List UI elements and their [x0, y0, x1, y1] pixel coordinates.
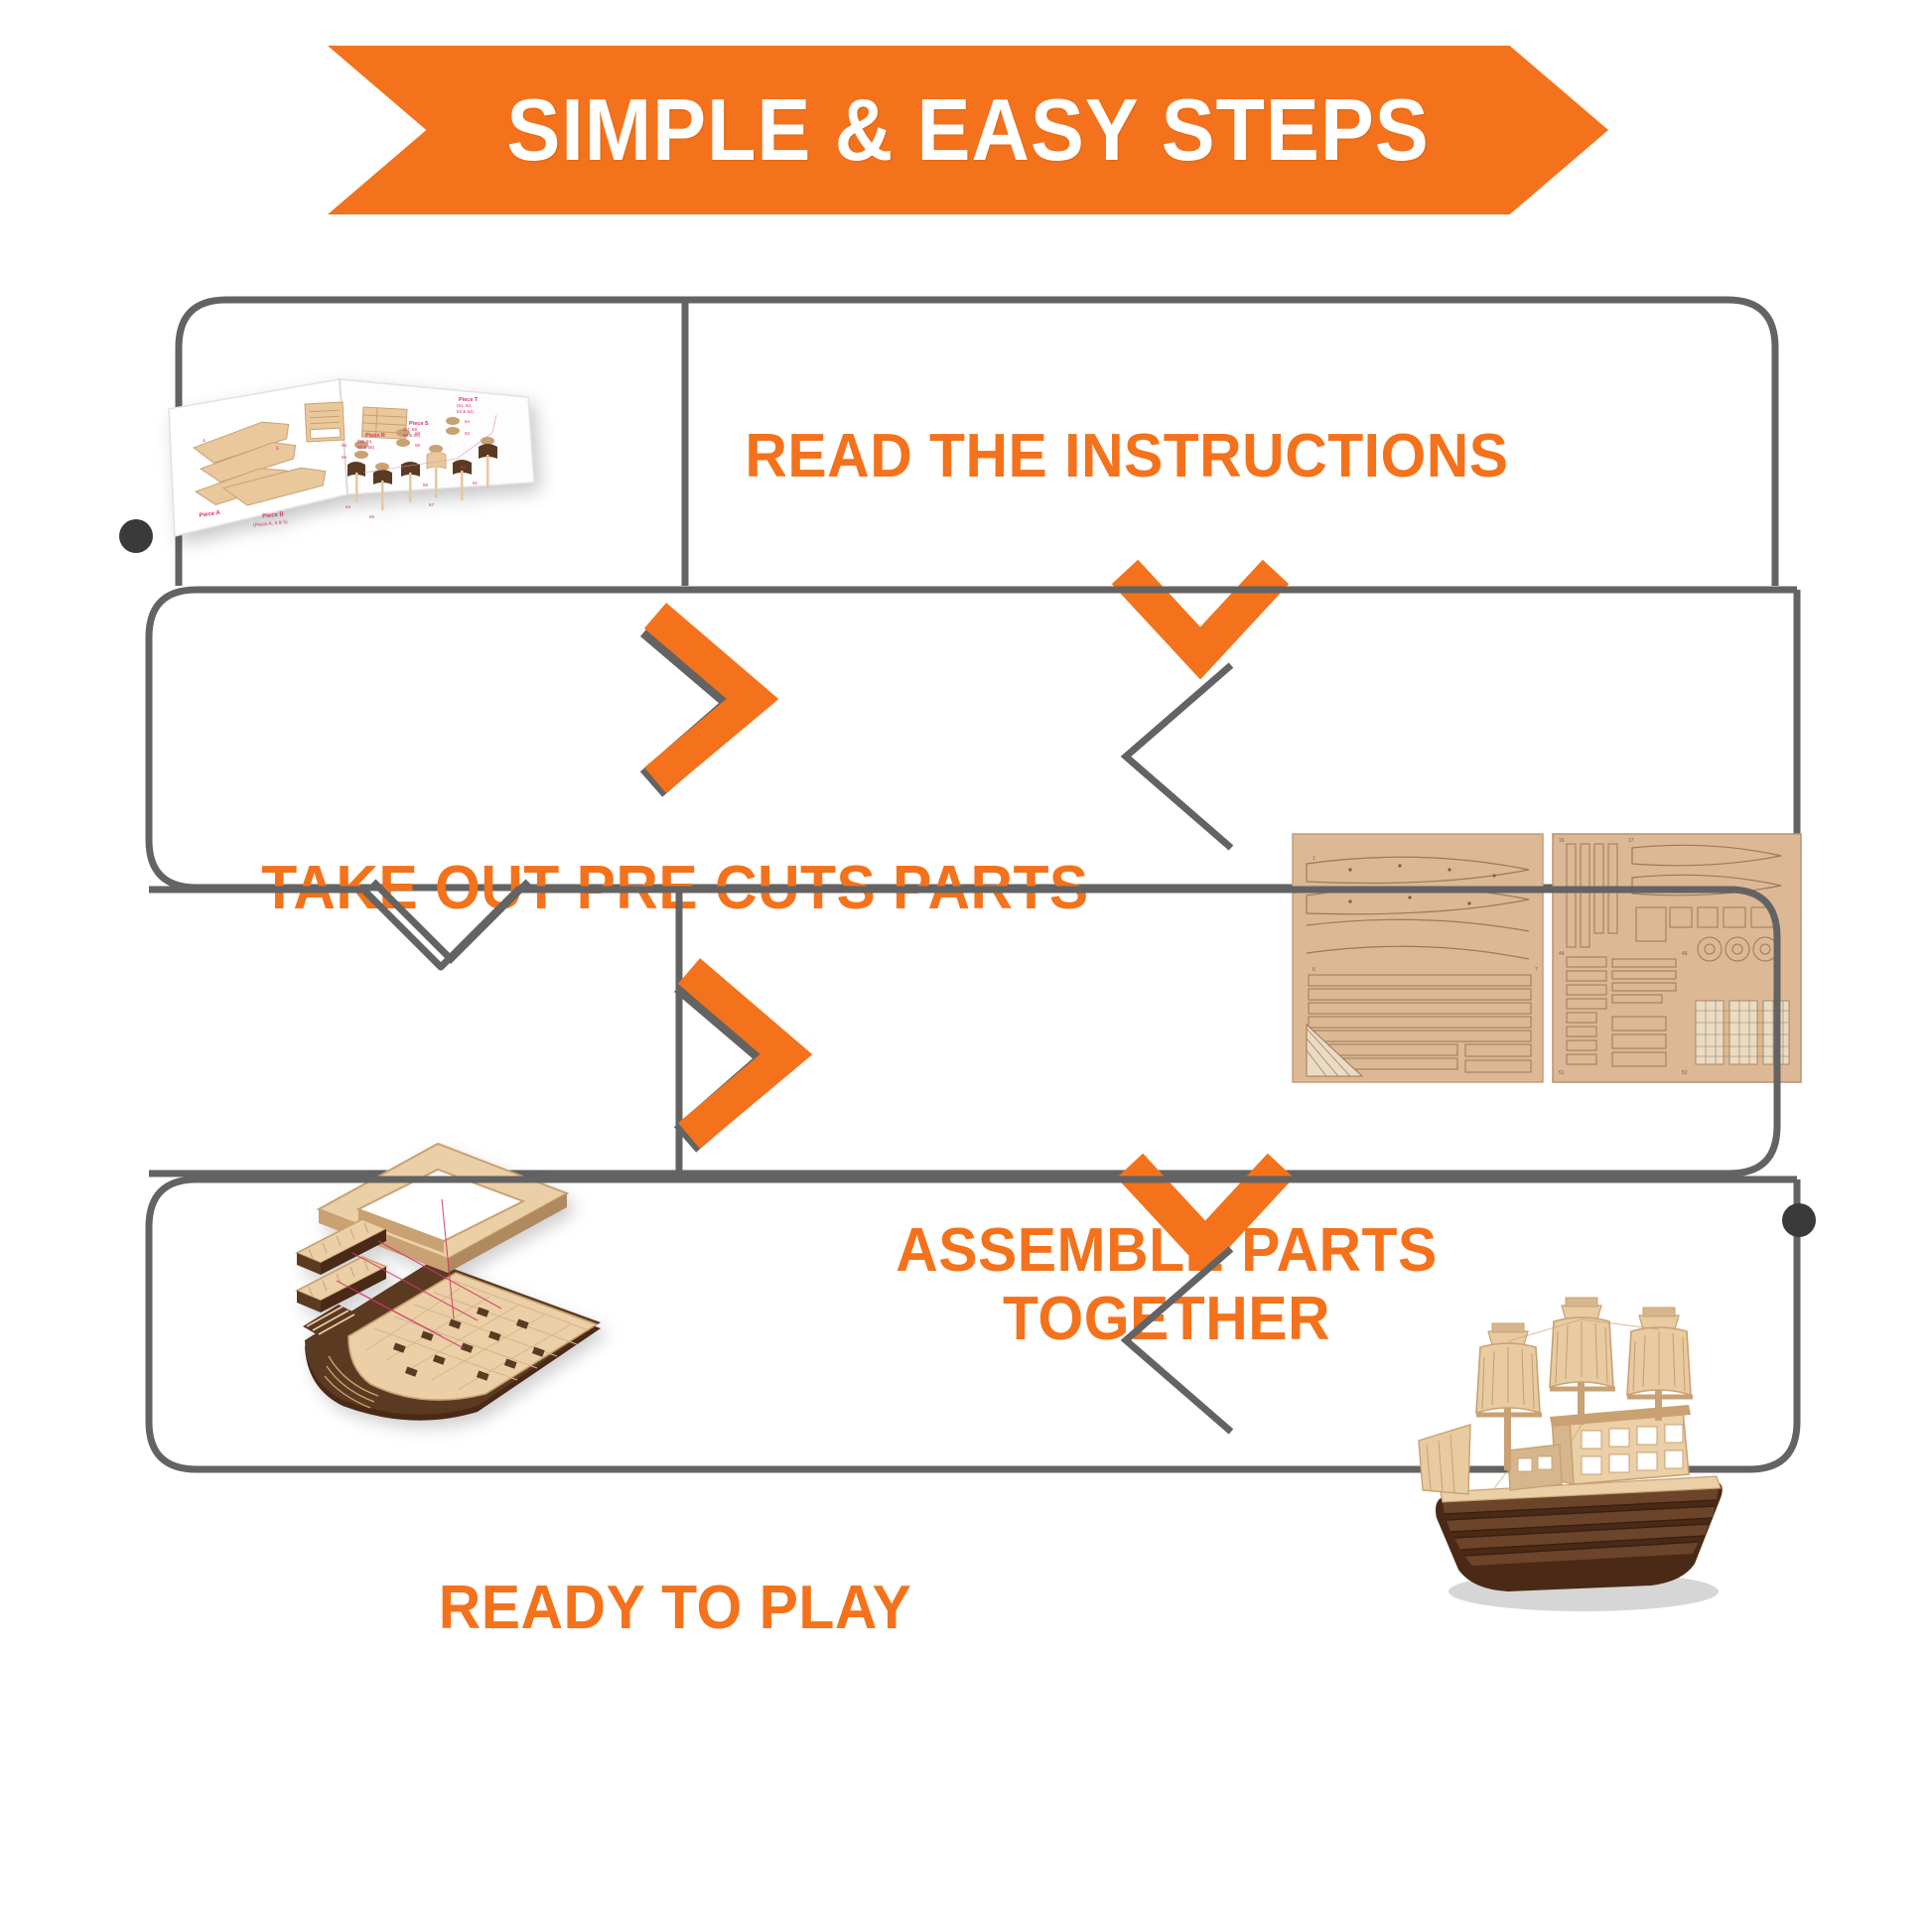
svg-text:(53, 54,: (53, 54,: [357, 439, 372, 444]
svg-text:59 & 60): 59 & 60): [403, 433, 421, 438]
svg-text:Piece B: Piece B: [262, 511, 285, 519]
flow-start-dot: [119, 519, 153, 553]
svg-text:16: 16: [1559, 838, 1565, 844]
step-4-label: READY TO PLAY: [222, 1549, 1128, 1668]
svg-text:(61, 62,: (61, 62,: [457, 403, 472, 408]
finished-ship-model-image: [1385, 1246, 1772, 1633]
infographic-canvas: SIMPLE & EASY STEPS: [0, 0, 1932, 1932]
flow-end-dot: [1782, 1203, 1816, 1237]
svg-text:61: 61: [473, 481, 479, 485]
svg-text:64: 64: [465, 419, 471, 424]
header-banner: SIMPLE & EASY STEPS: [328, 46, 1608, 214]
svg-text:60 & 58): 60 & 58): [357, 445, 375, 450]
step-3-outline: [149, 882, 1797, 1179]
svg-text:63 & 64): 63 & 64): [457, 409, 475, 414]
step-4-chevron-icon: [1112, 1247, 1251, 1436]
svg-text:1: 1: [1312, 856, 1315, 862]
svg-text:(57, 58,: (57, 58,: [403, 427, 418, 432]
banner-shape: SIMPLE & EASY STEPS: [328, 46, 1608, 214]
svg-text:62: 62: [461, 465, 467, 470]
step-1-label: READ THE INSTRUCTIONS: [660, 397, 1594, 516]
svg-text:56: 56: [342, 443, 347, 448]
step-3-chevron-icon: [665, 971, 864, 1150]
page-title: SIMPLE & EASY STEPS: [506, 79, 1429, 181]
svg-text:58: 58: [423, 483, 429, 487]
step-row-3: [149, 882, 1797, 1179]
svg-text:54: 54: [345, 504, 351, 509]
svg-text:59: 59: [415, 443, 421, 448]
step-2-chevron-icon: [1112, 663, 1251, 852]
svg-text:57: 57: [429, 502, 435, 507]
svg-text:65: 65: [369, 514, 375, 519]
svg-text:(Piece A, 4 & 5): (Piece A, 4 & 5): [253, 519, 289, 529]
svg-text:55: 55: [342, 455, 347, 460]
instruction-booklet-image: 4 5 Piece A Piece B (Piece A, 4 & 5): [159, 367, 546, 546]
svg-text:63: 63: [465, 431, 471, 436]
svg-text:17: 17: [1628, 838, 1634, 844]
